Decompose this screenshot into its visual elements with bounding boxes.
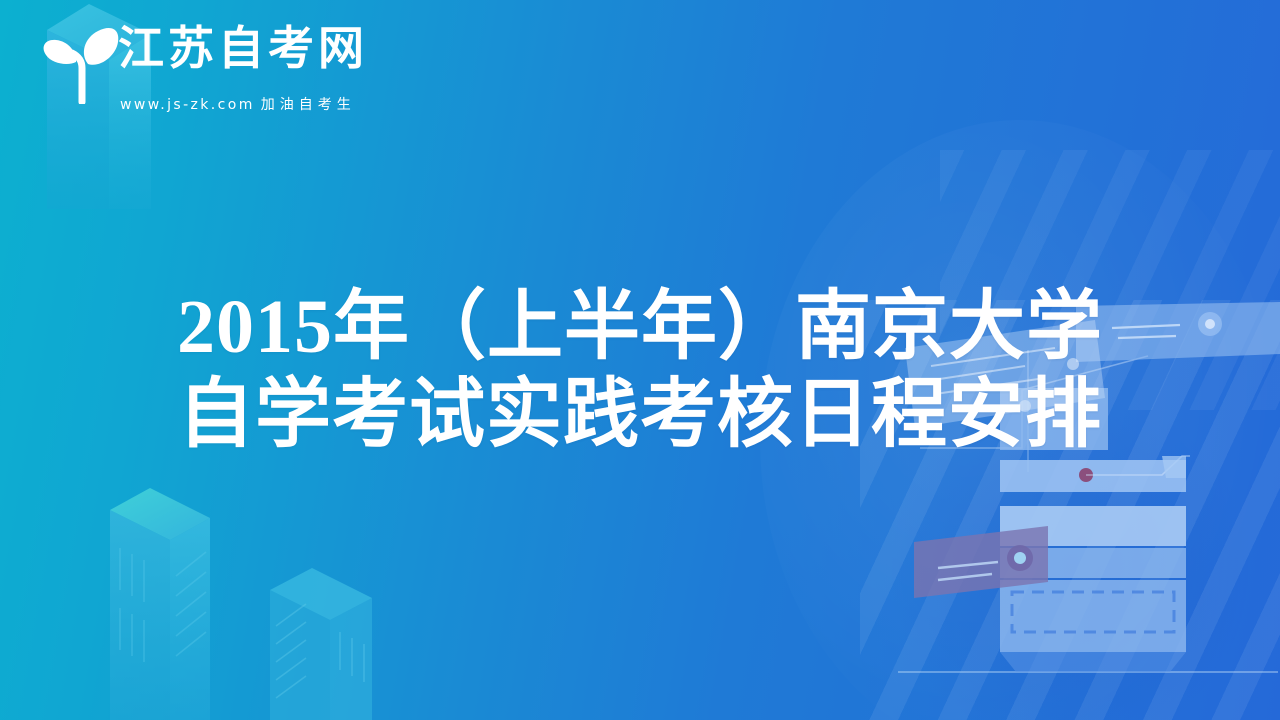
logo-title: 江苏自考网 (118, 24, 368, 74)
page-title: 2015年（上半年）南京大学自学考试实践考核日程安排 (140, 283, 1140, 459)
logo-url-text: www.js-zk.com (120, 97, 255, 113)
logo-tagline: www.js-zk.com加油自考生 (120, 94, 356, 114)
sprout-icon (36, 24, 122, 104)
site-logo[interactable]: 江苏自考网 www.js-zk.com加油自考生 (0, 0, 420, 210)
banner-root: 江苏自考网 www.js-zk.com加油自考生 2015年（上半年）南京大学自… (0, 0, 1280, 720)
isometric-buildings-decoration (100, 480, 440, 720)
logo-slogan: 加油自考生 (261, 97, 356, 113)
